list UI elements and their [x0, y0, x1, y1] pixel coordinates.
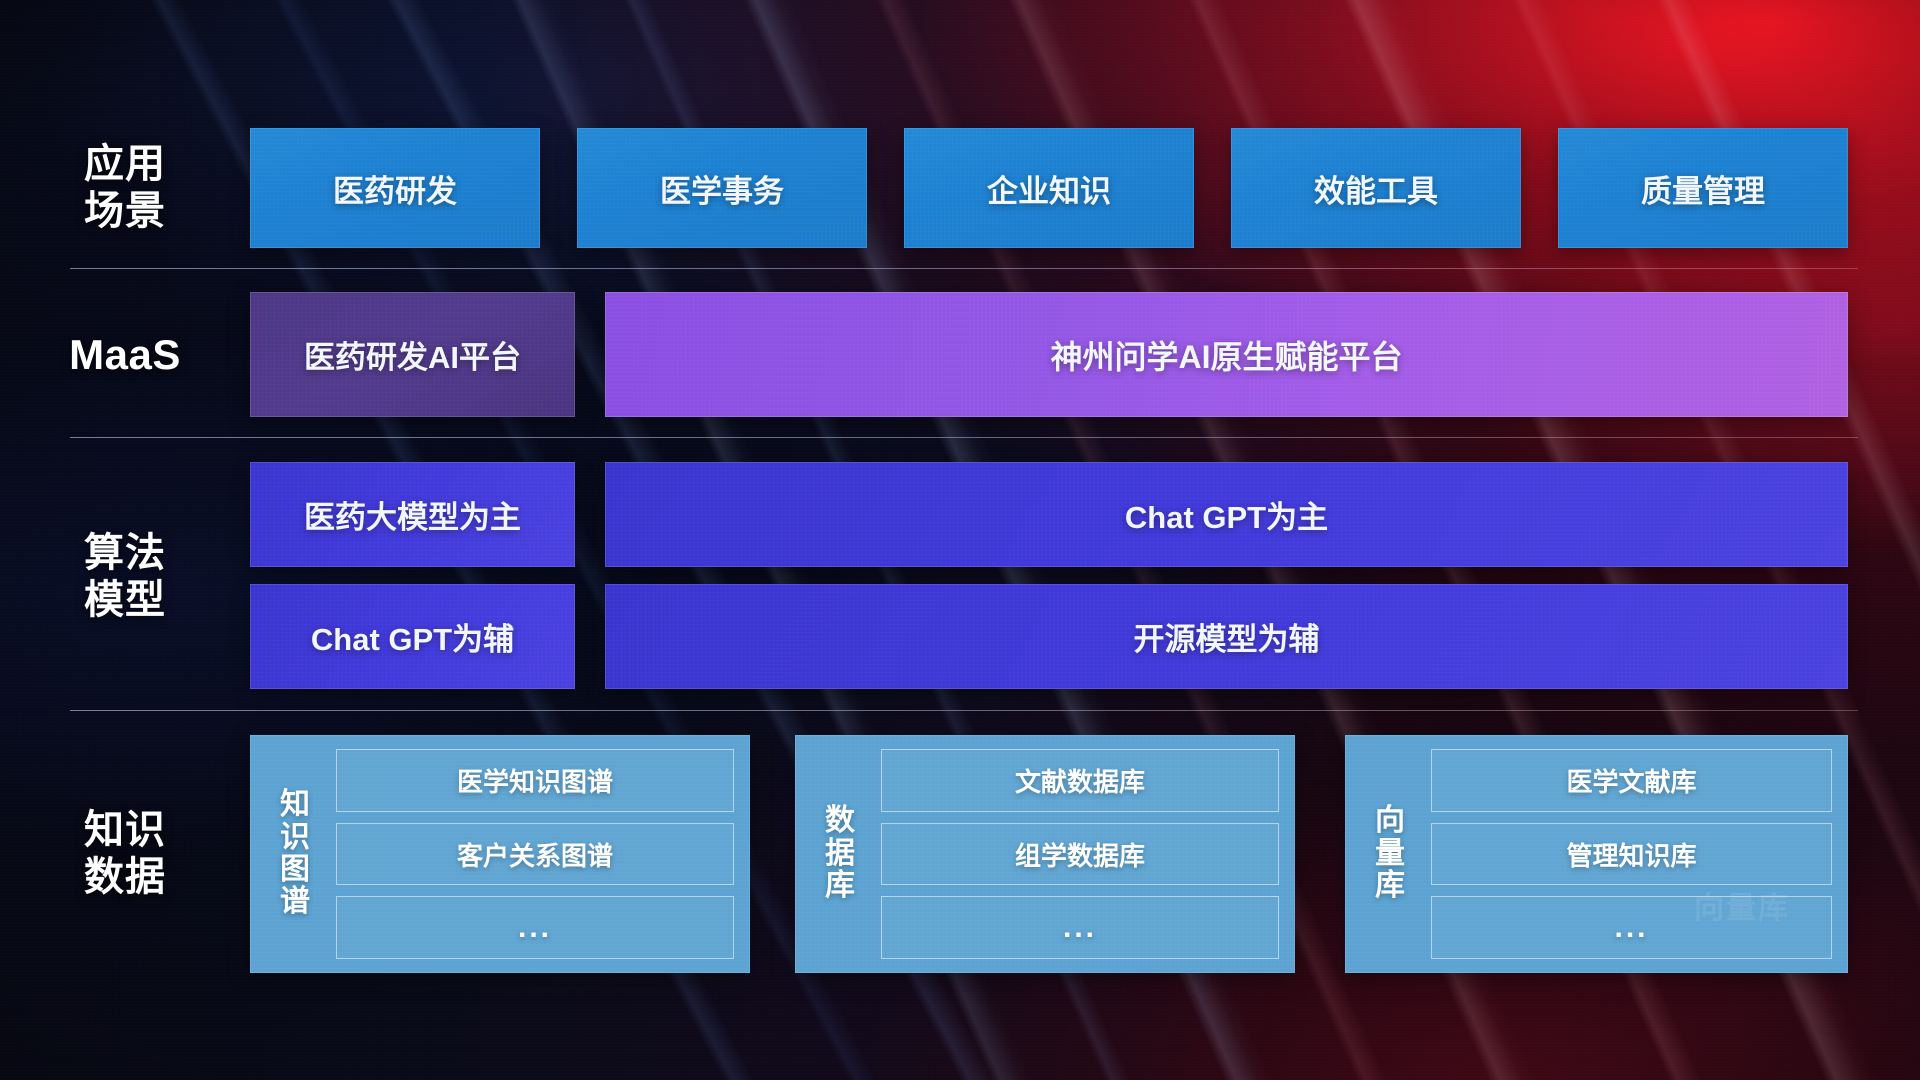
slide-canvas: 应用 场景 医药研发 医学事务 企业知识 效能工具 质量管理: [0, 0, 1920, 1080]
algo-card-opensource-secondary[interactable]: 开源模型为辅: [605, 584, 1848, 689]
knowledge-item-more[interactable]: ...: [1431, 896, 1832, 959]
algo-card-label: 开源模型为辅: [1134, 614, 1320, 659]
knowledge-group-database[interactable]: 数 据 库 文献数据库 组学数据库 ...: [795, 735, 1295, 973]
knowledge-item[interactable]: 客户关系图谱: [336, 823, 734, 886]
row-label-application-scenarios: 应用 场景: [0, 141, 250, 235]
row-label-algorithm-models: 算法 模型: [0, 530, 250, 624]
algo-card-chatgpt-primary[interactable]: Chat GPT为主: [605, 462, 1848, 567]
row-body-algorithm-models: 医药大模型为主 Chat GPT为主 Chat GPT为辅 开源模型为辅: [250, 462, 1920, 692]
row-knowledge-data: 知识 数据 知 识 图 谱 医学知识图谱 客户关系图谱 ...: [0, 735, 1920, 973]
algo-card-label: Chat GPT为主: [1125, 492, 1328, 537]
knowledge-group-title: 知 识 图 谱: [264, 749, 326, 959]
knowledge-group-items: 医学知识图谱 客户关系图谱 ...: [326, 749, 734, 959]
app-card-quality-management[interactable]: 质量管理: [1558, 128, 1848, 248]
knowledge-group-vector-database[interactable]: 向 量 库 向量库 医学文献库 管理知识库 ...: [1345, 735, 1848, 973]
knowledge-item[interactable]: 管理知识库: [1431, 823, 1832, 886]
divider-after-algorithm-models: [70, 710, 1858, 711]
knowledge-item-more[interactable]: ...: [881, 896, 1279, 959]
row-body-application-scenarios: 医药研发 医学事务 企业知识 效能工具 质量管理: [250, 128, 1920, 248]
algo-card-label: 医药大模型为主: [304, 492, 521, 537]
knowledge-group-title-char: 量: [1375, 838, 1405, 870]
algo-card-pharma-llm-primary[interactable]: 医药大模型为主: [250, 462, 575, 567]
knowledge-item-more[interactable]: ...: [336, 896, 734, 959]
knowledge-group-title-char: 数: [825, 805, 855, 837]
divider-after-maas: [70, 437, 1858, 438]
row-maas: MaaS 医药研发AI平台 神州问学AI原生赋能平台: [0, 292, 1920, 417]
maas-card-pharma-ai-platform[interactable]: 医药研发AI平台: [250, 292, 575, 417]
app-card-label: 医学事务: [660, 166, 784, 211]
knowledge-item[interactable]: 医学文献库: [1431, 749, 1832, 812]
row-algorithm-models: 算法 模型 医药大模型为主 Chat GPT为主 Chat GPT为辅 开源模型…: [0, 462, 1920, 692]
knowledge-item[interactable]: 组学数据库: [881, 823, 1279, 886]
maas-card-shenzhou-wenxue-platform[interactable]: 神州问学AI原生赋能平台: [605, 292, 1848, 417]
knowledge-group-title-char: 据: [825, 838, 855, 870]
app-card-enterprise-knowledge[interactable]: 企业知识: [904, 128, 1194, 248]
app-card-label: 质量管理: [1641, 166, 1765, 211]
app-card-label: 医药研发: [333, 166, 457, 211]
knowledge-group-title: 向 量 库: [1359, 749, 1421, 959]
knowledge-group-title-char: 库: [1375, 870, 1405, 902]
knowledge-group-title-char: 向: [1375, 805, 1405, 837]
row-application-scenarios: 应用 场景 医药研发 医学事务 企业知识 效能工具 质量管理: [0, 128, 1920, 248]
divider-after-application-scenarios: [70, 268, 1858, 269]
knowledge-group-title-char: 图: [280, 854, 310, 886]
knowledge-group-title: 数 据 库: [809, 749, 871, 959]
maas-card-label: 神州问学AI原生赋能平台: [1050, 332, 1402, 378]
app-card-efficiency-tools[interactable]: 效能工具: [1231, 128, 1521, 248]
knowledge-group-knowledge-graph[interactable]: 知 识 图 谱 医学知识图谱 客户关系图谱 ...: [250, 735, 750, 973]
app-card-label: 效能工具: [1314, 166, 1438, 211]
knowledge-group-title-char: 知: [280, 789, 310, 821]
row-body-knowledge-data: 知 识 图 谱 医学知识图谱 客户关系图谱 ... 数 据: [250, 735, 1920, 973]
maas-card-label: 医药研发AI平台: [304, 332, 521, 377]
algo-card-chatgpt-secondary[interactable]: Chat GPT为辅: [250, 584, 575, 689]
architecture-diagram: 应用 场景 医药研发 医学事务 企业知识 效能工具 质量管理: [0, 0, 1920, 1080]
knowledge-item[interactable]: 文献数据库: [881, 749, 1279, 812]
knowledge-group-title-char: 识: [280, 822, 310, 854]
algo-card-label: Chat GPT为辅: [311, 614, 514, 659]
knowledge-group-title-char: 谱: [280, 886, 310, 918]
row-label-maas: MaaS: [0, 330, 250, 379]
knowledge-group-items: 医学文献库 管理知识库 ...: [1421, 749, 1832, 959]
knowledge-item[interactable]: 医学知识图谱: [336, 749, 734, 812]
row-label-knowledge-data: 知识 数据: [0, 807, 250, 901]
knowledge-group-title-char: 库: [825, 870, 855, 902]
app-card-label: 企业知识: [987, 166, 1111, 211]
knowledge-group-items: 文献数据库 组学数据库 ...: [871, 749, 1279, 959]
row-body-maas: 医药研发AI平台 神州问学AI原生赋能平台: [250, 292, 1920, 417]
app-card-medicine-rnd[interactable]: 医药研发: [250, 128, 540, 248]
app-card-medical-affairs[interactable]: 医学事务: [577, 128, 867, 248]
